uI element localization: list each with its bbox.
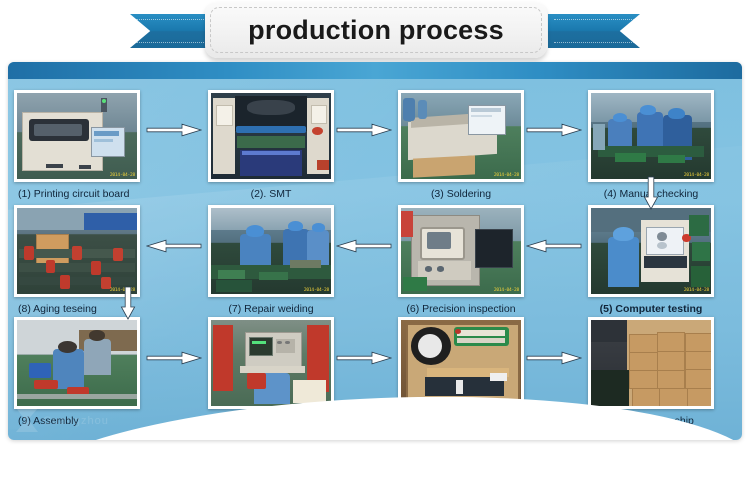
title-ribbon: production process xyxy=(0,0,750,62)
photo-welding-bench: 2014-04-28 xyxy=(211,208,331,294)
arrow-8-to-9-icon xyxy=(120,286,136,320)
photo-aoi-station: 2014-04-28 xyxy=(591,208,711,294)
photo-signal-test xyxy=(211,320,331,406)
step-photo-ready-to-ship[interactable] xyxy=(588,317,714,409)
step-photo-packing[interactable]: 2014-04-28 xyxy=(398,317,524,409)
step-label-printing-circuit-board: (1) Printing circuit board xyxy=(14,188,140,201)
photo-packing-box: 2014-04-28 xyxy=(401,320,521,406)
arrow-3-to-4-icon xyxy=(526,122,582,138)
arrow-9-to-10-icon xyxy=(146,350,202,366)
step-packing[interactable]: 2014-04-28(11) Packing xyxy=(398,317,524,428)
photo-date-stamp: 2014-04-28 xyxy=(494,173,519,178)
photo-date-stamp: 2014-04-28 xyxy=(684,173,709,178)
photo-assembly-line: 2014-04-28 xyxy=(591,93,711,179)
step-signal-detection[interactable]: (10) Signal delection xyxy=(208,317,334,428)
photo-date-stamp: 2014-04-28 xyxy=(304,288,329,293)
step-printing-circuit-board[interactable]: 2014-04-28(1) Printing circuit board xyxy=(14,90,140,201)
photo-date-stamp: 2014-04-28 xyxy=(494,400,519,405)
step-label-computer-testing: (5) Computer testing xyxy=(588,303,714,316)
photo-date-stamp: 2014-04-28 xyxy=(684,288,709,293)
step-precision-inspection[interactable]: 2014-04-28(6) Precision inspection xyxy=(398,205,524,316)
step-computer-testing[interactable]: 2014-04-28(5) Computer testing xyxy=(588,205,714,316)
step-label-assembly: (9) Assembly xyxy=(14,415,140,428)
step-photo-manual-checking[interactable]: 2014-04-28 xyxy=(588,90,714,182)
photo-aging-rack: 2014-04-28 xyxy=(17,208,137,294)
step-label-ready-to-ship: (12) Ready to ship xyxy=(588,415,714,428)
arrow-2-to-3-icon xyxy=(336,122,392,138)
ribbon-tail-right-icon xyxy=(548,14,640,48)
arrow-5-to-6-icon xyxy=(526,238,582,254)
arrow-7-to-8-icon xyxy=(146,238,202,254)
step-ready-to-ship[interactable]: (12) Ready to ship xyxy=(588,317,714,428)
step-photo-printing-circuit-board[interactable]: 2014-04-28 xyxy=(14,90,140,182)
arrow-1-to-2-icon xyxy=(146,122,202,138)
photo-smt-printer: 2014-04-28 xyxy=(17,93,137,179)
step-label-packing: (11) Packing xyxy=(398,415,524,428)
step-photo-aging-testing[interactable]: 2014-04-28 xyxy=(14,205,140,297)
photo-date-stamp: 2014-04-28 xyxy=(110,173,135,178)
photo-date-stamp: 2014-04-28 xyxy=(494,288,519,293)
step-assembly[interactable]: (9) Assembly xyxy=(14,317,140,428)
step-photo-signal-detection[interactable] xyxy=(208,317,334,409)
step-photo-smt[interactable] xyxy=(208,90,334,182)
step-photo-soldering[interactable]: 2014-04-28 xyxy=(398,90,524,182)
arrow-4-to-5-icon xyxy=(643,176,659,210)
step-photo-precision-inspection[interactable]: 2014-04-28 xyxy=(398,205,524,297)
photo-assembly-floor xyxy=(17,320,137,406)
step-soldering[interactable]: 2014-04-28(3) Soldering xyxy=(398,90,524,201)
arrow-10-to-11-icon xyxy=(336,350,392,366)
photo-smt-mounter xyxy=(211,93,331,179)
page-title: production process xyxy=(205,2,547,58)
arrow-11-to-12-icon xyxy=(526,350,582,366)
step-label-smt: (2). SMT xyxy=(208,188,334,201)
step-repair-welding[interactable]: 2014-04-28(7) Repair weiding xyxy=(208,205,334,316)
process-panel: 2014-04-28(1) Printing circuit board (2)… xyxy=(8,62,742,440)
step-label-signal-detection: (10) Signal delection xyxy=(208,415,334,428)
step-label-soldering: (3) Soldering xyxy=(398,188,524,201)
step-label-precision-inspection: (6) Precision inspection xyxy=(398,303,524,316)
step-smt[interactable]: (2). SMT xyxy=(208,90,334,201)
step-label-repair-welding: (7) Repair weiding xyxy=(208,303,334,316)
photo-warehouse-stack xyxy=(591,320,711,406)
arrow-6-to-7-icon xyxy=(336,238,392,254)
photo-reflow-oven: 2014-04-28 xyxy=(401,93,521,179)
step-photo-computer-testing[interactable]: 2014-04-28 xyxy=(588,205,714,297)
step-photo-assembly[interactable] xyxy=(14,317,140,409)
photo-inspection-chamber: 2014-04-28 xyxy=(401,208,521,294)
panel-header-bar xyxy=(8,62,742,79)
step-photo-repair-welding[interactable]: 2014-04-28 xyxy=(208,205,334,297)
